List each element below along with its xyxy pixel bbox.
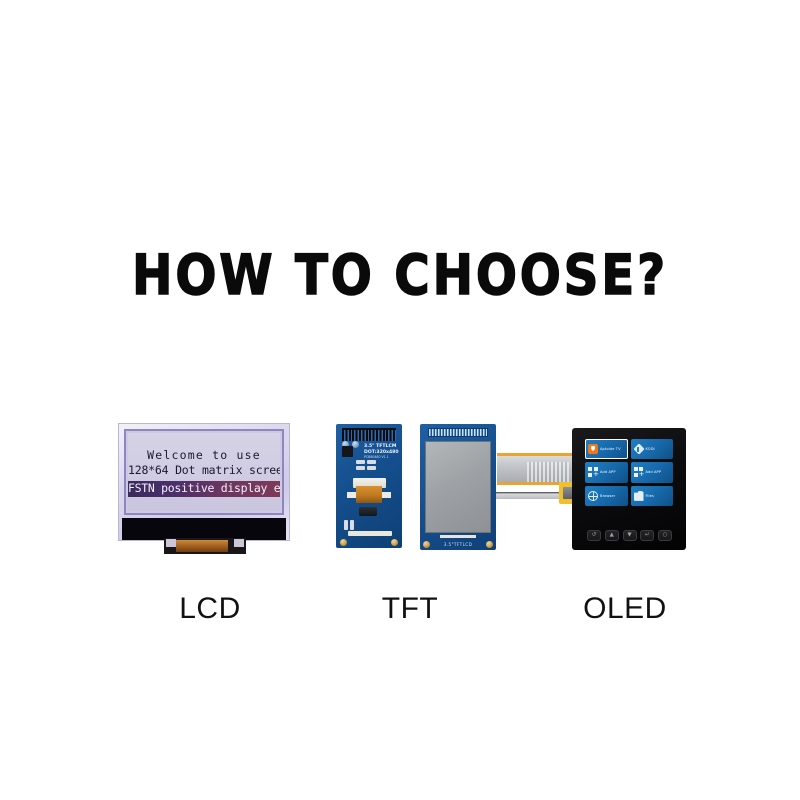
tft-front-connector-strip xyxy=(440,535,476,538)
oled-back-button[interactable]: ↺ xyxy=(587,530,601,541)
power-icon: ○ xyxy=(659,531,671,540)
oled-tile-add-app-1[interactable]: Add APP xyxy=(585,462,628,482)
tft-pin-header xyxy=(342,428,396,441)
oled-tile-label: Files xyxy=(646,494,654,498)
oled-app-grid: Aptoide TV KODI Add APP Add APP Browser xyxy=(585,439,673,506)
chevron-down-icon: ▼ xyxy=(624,531,636,540)
tft-smd-part-6 xyxy=(350,520,354,530)
product-tft-module: 3.5" TFTLCM DOT:320x480 PCB80480 V1.1 3.… xyxy=(336,424,496,552)
oled-button-row: ↺ ▲ ▼ ↵ ○ xyxy=(587,530,672,541)
product-lcd-module: Welcome to use 128*64 Dot matrix screen … xyxy=(118,423,290,560)
files-folder-icon xyxy=(634,491,644,501)
tft-controller-chip xyxy=(342,446,353,457)
page-title: HOW TO CHOOSE? xyxy=(28,244,772,308)
oled-enter-button[interactable]: ↵ xyxy=(640,530,654,541)
oled-tile-label: Browser xyxy=(600,494,615,498)
add-app-icon xyxy=(634,467,644,477)
caption-oled: OLED xyxy=(570,592,680,626)
tft-bottom-connector xyxy=(348,531,392,536)
chevron-up-icon: ▲ xyxy=(606,531,618,540)
oled-tile-add-app-2[interactable]: Add APP xyxy=(631,462,674,482)
tft-flex-cable xyxy=(356,486,382,503)
oled-flex-cable-wide xyxy=(497,453,583,485)
oled-tile-files[interactable]: Files xyxy=(631,486,674,506)
product-oled-module: Aptoide TV KODI Add APP Add APP Browser xyxy=(496,428,686,550)
lcd-lower-glass xyxy=(122,518,286,540)
tft-front-mount-hole-left xyxy=(423,541,430,548)
tft-front-mount-hole-right xyxy=(486,541,493,548)
oled-down-button[interactable]: ▼ xyxy=(623,530,637,541)
tft-flex-tab-left xyxy=(347,492,356,498)
lcd-ribbon-tab-right xyxy=(234,539,244,547)
tft-mount-hole-bottom-right xyxy=(391,539,398,546)
oled-tile-label: Add APP xyxy=(646,470,662,474)
oled-tile-browser[interactable]: Browser xyxy=(585,486,628,506)
tft-smd-part-2 xyxy=(367,460,376,464)
lcd-text-line-2: 128*64 Dot matrix screen xyxy=(128,465,280,477)
tft-test-pad-b xyxy=(352,441,359,448)
oled-tile-label: KODI xyxy=(646,447,655,451)
tft-silkscreen-line-3: PCB80480 V1.1 xyxy=(364,455,401,459)
caption-row: LCD TFT OLED xyxy=(0,592,800,636)
product-comparison-row: Welcome to use 128*64 Dot matrix screen … xyxy=(0,410,800,570)
lcd-ribbon-connector xyxy=(164,538,246,554)
lcd-ribbon-cable xyxy=(176,540,228,552)
tft-sd-card-slot xyxy=(359,507,377,516)
aptoide-icon xyxy=(588,444,598,454)
browser-globe-icon xyxy=(588,491,598,501)
tft-mount-hole-bottom-left xyxy=(340,539,347,546)
back-icon: ↺ xyxy=(588,531,600,540)
tft-front-pin-header xyxy=(428,428,488,437)
tft-pcb-front-view: 3.5"TFTLCD xyxy=(420,424,496,550)
tft-smd-part-3 xyxy=(356,466,365,470)
lcd-highlight-band: FSTN positive display effect xyxy=(128,481,280,498)
tft-smd-part-5 xyxy=(344,520,348,530)
lcd-text-line-3: FSTN positive display effect xyxy=(128,483,280,495)
tft-silkscreen-line-1: 3.5" TFTLCM xyxy=(364,444,401,450)
lcd-ribbon-tab-left xyxy=(166,539,176,547)
kodi-icon xyxy=(634,444,644,454)
add-app-icon xyxy=(588,467,598,477)
enter-icon: ↵ xyxy=(641,531,653,540)
oled-tile-label: Aptoide TV xyxy=(600,447,621,451)
tft-smd-part-4 xyxy=(367,466,376,470)
lcd-inner-frame: Welcome to use 128*64 Dot matrix screen … xyxy=(124,429,284,515)
oled-tile-label: Add APP xyxy=(600,470,616,474)
tft-silkscreen-text: 3.5" TFTLCM DOT:320x480 PCB80480 V1.1 xyxy=(364,444,401,459)
caption-lcd: LCD xyxy=(175,592,245,626)
tft-pcb-back-view: 3.5" TFTLCM DOT:320x480 PCB80480 V1.1 xyxy=(336,424,402,548)
oled-tile-aptoide-tv[interactable]: Aptoide TV xyxy=(585,439,628,459)
oled-up-button[interactable]: ▲ xyxy=(605,530,619,541)
oled-display-body: Aptoide TV KODI Add APP Add APP Browser xyxy=(572,428,686,550)
oled-tile-kodi[interactable]: KODI xyxy=(631,439,674,459)
oled-flex-traces xyxy=(527,462,569,482)
tft-front-label: 3.5"TFTLCD xyxy=(420,542,496,547)
lcd-screen: Welcome to use 128*64 Dot matrix screen … xyxy=(128,433,280,511)
lcd-text-line-1: Welcome to use xyxy=(128,450,280,462)
tft-flex-tab-right xyxy=(382,492,391,498)
oled-power-button[interactable]: ○ xyxy=(658,530,672,541)
caption-tft: TFT xyxy=(375,592,445,626)
tft-smd-part-1 xyxy=(356,460,365,464)
tft-display-screen xyxy=(425,441,491,533)
